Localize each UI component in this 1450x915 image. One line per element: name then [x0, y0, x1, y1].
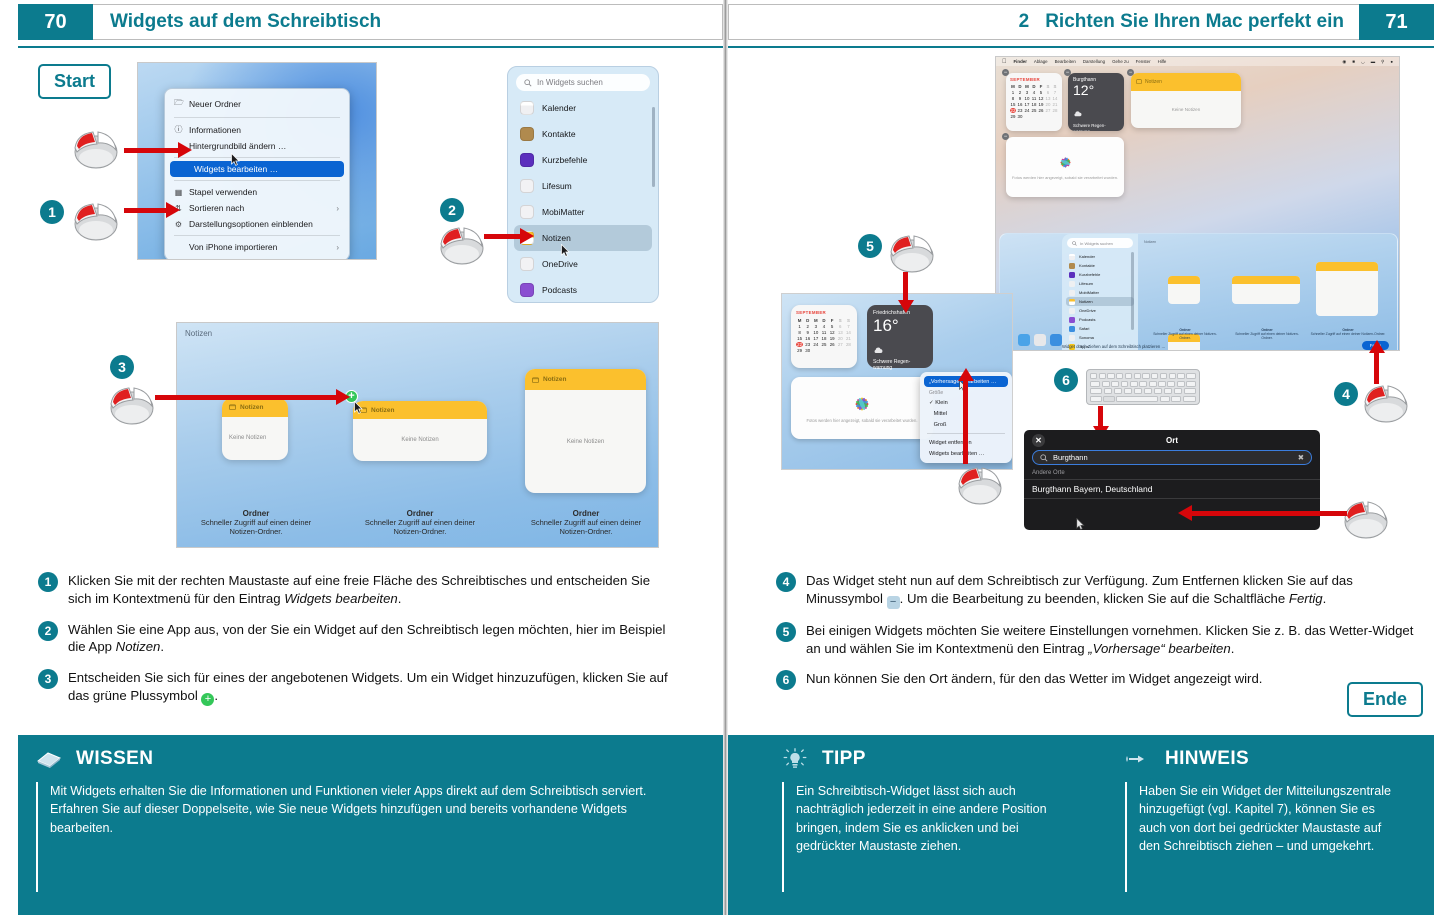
widget-app-row-podcasts[interactable]: Podcasts: [514, 277, 652, 303]
sheet-app-label: Safari: [1079, 326, 1089, 331]
calendar-day: 27: [1045, 108, 1051, 113]
calendar-day: 23: [1017, 108, 1023, 113]
app-icon-podcasts: [520, 283, 534, 297]
calendar-day: 14: [845, 330, 852, 335]
widget-caption-2: Ordner Schneller Zugriff auf einen deine…: [351, 509, 489, 537]
context-menu-item-label: Informationen: [189, 125, 241, 135]
widget-card-head-small: Notizen: [222, 398, 288, 417]
context-menu-separator: [174, 117, 340, 118]
calendar-weekday: M: [796, 318, 803, 323]
menu-darstellung[interactable]: Darstellung: [1083, 59, 1105, 64]
calendar-day: 2: [804, 324, 811, 329]
sheet-app-row-onedrive[interactable]: OneDrive: [1066, 306, 1134, 315]
widget-body-medium: Keine Notizen: [353, 419, 487, 461]
control-center-icon[interactable]: ◉: [1342, 59, 1346, 65]
location-result-label: Burgthann Bayern, Deutschland: [1032, 484, 1153, 494]
desktop-calendar-grid: MDMDFSS123456789101112131415161718192021…: [1010, 84, 1058, 119]
app-icon-safari: [1069, 326, 1075, 332]
arrow-to-notizen: [484, 234, 524, 239]
start-chip: Start: [38, 64, 111, 99]
calendar-weekday: S: [1052, 84, 1058, 89]
calendar-day: 5: [1038, 90, 1044, 95]
app-icon-kalender: [1069, 254, 1075, 260]
mouse-pointer-icon-ort: [1076, 518, 1085, 530]
widget-card-head-large: Notizen: [525, 369, 646, 390]
new-folder-icon: 🗁: [174, 97, 183, 111]
wissen-heading: WISSEN: [36, 748, 696, 770]
context-menu-item-label: Hintergrundbild ändern …: [189, 141, 286, 151]
context-menu-separator: [174, 180, 340, 181]
calendar-day: 3: [812, 324, 819, 329]
calendar-day: 28: [845, 342, 852, 347]
sheet-app-label: Kurzbefehle: [1079, 272, 1100, 277]
callout-badge-5: 5: [858, 234, 882, 258]
context-menu-item-label: Darstellungsoptionen einblenden: [189, 219, 313, 229]
arrow-head-4: [336, 389, 350, 405]
mouse-left-click-icon-5b: [952, 462, 1008, 511]
arrow-head-5: [1369, 340, 1385, 353]
sheet-caption-desc-1: Schneller Zugriff auf einen deiner Notiz…: [1153, 332, 1216, 340]
calendar-day: 19: [829, 336, 836, 341]
widget-card-large[interactable]: Notizen Keine Notizen: [525, 369, 646, 493]
widget-caption-3: Ordner Schneller Zugriff auf einen deine…: [517, 509, 655, 537]
display-icon[interactable]: ▬: [1371, 59, 1375, 65]
widget-card-small[interactable]: Notizen Keine Notizen: [222, 398, 288, 460]
widget-app-row-mobimatter[interactable]: MobiMatter: [514, 199, 652, 225]
sheet-app-row-kontakte[interactable]: Kontakte: [1066, 261, 1134, 270]
dock-launchpad-icon[interactable]: [1034, 334, 1046, 346]
sheet-search-placeholder: In Widgets suchen: [1080, 241, 1113, 246]
context-menu-separator: [174, 157, 340, 158]
step-text-5: Bei einigen Widgets möchten Sie weitere …: [806, 622, 1416, 658]
widget-body-small: Keine Notizen: [222, 417, 288, 460]
widget-app-row-kontakte[interactable]: Kontakte: [514, 121, 652, 147]
picker-scrollbar[interactable]: [652, 107, 655, 187]
widget-app-label: OneDrive: [542, 259, 578, 269]
calendar-day: 27: [837, 342, 844, 347]
notes-folder-icon-4: [1136, 79, 1142, 84]
arrow-to-fertig: [1374, 352, 1379, 384]
calendar-day: 5: [829, 324, 836, 329]
app-icon-podcasts: [1069, 317, 1075, 323]
instruction-step-3: 3Entscheiden Sie sich für eines der ange…: [38, 669, 670, 706]
remove-widget-minus-icon-photos[interactable]: −: [1002, 133, 1009, 140]
fig5-calendar-widget[interactable]: SEPTEMBER MDMDFSS12345678910111213141516…: [791, 305, 857, 368]
step-badge-4: 4: [776, 572, 796, 592]
sheet-app-row-mobimatter[interactable]: MobiMatter: [1066, 288, 1134, 297]
calendar-day: 25: [1031, 108, 1037, 113]
calendar-day: 4: [820, 324, 827, 329]
calendar-day: 29: [796, 348, 803, 353]
app-icon-kontakte: [1069, 263, 1075, 269]
context-menu-item-label: Sortieren nach: [189, 203, 244, 213]
sheet-app-label: MobiMatter: [1079, 290, 1099, 295]
calendar-day: 11: [820, 330, 827, 335]
tipp-heading: TIPP: [782, 748, 1082, 770]
app-icon-notizen: [1069, 299, 1075, 305]
book-double-page: 70 Widgets auf dem Schreibtisch 71 2 Ric…: [0, 0, 1450, 915]
cloud-icon-fig5: [873, 341, 927, 359]
calendar-day: 11: [1031, 96, 1037, 101]
calendar-day: 12: [1038, 96, 1044, 101]
sheet-app-row-notizen[interactable]: Notizen: [1066, 297, 1134, 306]
calendar-day: 8: [796, 330, 803, 335]
calendar-day: 17: [812, 336, 819, 341]
location-result-row[interactable]: Burgthann Bayern, Deutschland: [1024, 479, 1320, 499]
calendar-day: 16: [1017, 102, 1023, 107]
app-icon-mobimatter: [1069, 290, 1075, 296]
sheet-app-row-kurzbefehle[interactable]: Kurzbefehle: [1066, 270, 1134, 279]
context-menu-item-8[interactable]: Von iPhone importieren›: [165, 239, 349, 255]
widget-card-medium[interactable]: Notizen Keine Notizen: [353, 401, 487, 461]
figure1-desktop-screenshot: 🗁Neuer OrdnerⓘInformationenHintergrundbi…: [137, 62, 377, 260]
inline-plus-icon: +: [201, 693, 214, 706]
calendar-day: 12: [829, 330, 836, 335]
figure5-desktop-weather-screenshot: SEPTEMBER MDMDFSS12345678910111213141516…: [781, 293, 1013, 470]
app-icon-kontakte: [520, 127, 534, 141]
calendar-day: 9: [804, 330, 811, 335]
sheet-caption-desc-2: Schneller Zugriff auf einen deiner Notiz…: [1235, 332, 1298, 340]
menu-finder[interactable]: Finder: [1014, 59, 1027, 64]
step-text-6: Nun können Sie den Ort ändern, für den d…: [806, 670, 1262, 690]
right-header-rule: [728, 46, 1434, 48]
sheet-app-row-podcasts[interactable]: Podcasts: [1066, 315, 1134, 324]
sheet-app-label: Lifesum: [1079, 281, 1093, 286]
menu-bearbeiten[interactable]: Bearbeiten: [1055, 59, 1076, 64]
calendar-day: 22: [796, 342, 803, 347]
context-menu-item-4[interactable]: Widgets bearbeiten …: [170, 161, 344, 177]
desktop-weather-temp: 12°: [1073, 83, 1119, 98]
dock-safari-icon[interactable]: [1050, 334, 1062, 346]
calendar-day: 26: [1038, 108, 1044, 113]
book-icon: [36, 749, 62, 769]
widget-app-row-kurzbefehle[interactable]: Kurzbefehle: [514, 147, 652, 173]
calendar-day: 6: [1045, 90, 1051, 95]
desktop-context-menu[interactable]: 🗁Neuer OrdnerⓘInformationenHintergrundbi…: [164, 88, 350, 260]
desktop-notes-head: Notizen: [1145, 79, 1162, 85]
widget-app-label: Kurzbefehle: [542, 155, 587, 165]
app-icon-mobimatter: [520, 205, 534, 219]
desktop-notes-widget[interactable]: Notizen Keine Notizen: [1131, 73, 1241, 128]
mouse-pointer-icon-gallery: [354, 401, 363, 414]
calendar-day: 9: [1017, 96, 1023, 101]
calendar-day: 10: [1024, 96, 1030, 101]
remove-widget-minus-icon-cal[interactable]: −: [1002, 69, 1009, 76]
search-icon-menubar[interactable]: ⚲: [1381, 59, 1384, 65]
sheet-app-label: Podcasts: [1079, 317, 1095, 322]
calendar-day: 23: [804, 342, 811, 347]
sheet-search-field[interactable]: In Widgets suchen: [1067, 238, 1133, 248]
arrow-head-3: [520, 228, 534, 244]
calendar-weekday: S: [1045, 84, 1051, 89]
box-wissen: WISSEN Mit Widgets erhalten Sie die Info…: [36, 748, 696, 892]
apple-logo-icon[interactable]: : [1002, 59, 1007, 65]
arrow-head-1: [178, 142, 192, 158]
step-text-1: Klicken Sie mit der rechten Maustaste au…: [68, 572, 670, 608]
widget-head-label-large: Notizen: [543, 376, 566, 383]
dock-finder-icon[interactable]: [1018, 334, 1030, 346]
calendar-weekday: D: [804, 318, 811, 323]
tipp-body: Ein Schreibtisch-Widget lässt sich auch …: [782, 782, 1062, 892]
widget-app-label: Notizen: [542, 233, 571, 243]
hinweis-heading: HINWEIS: [1125, 748, 1425, 770]
chapter-title: Richten Sie Ihren Mac perfekt ein: [1045, 11, 1344, 33]
sheet-app-row-lifesum[interactable]: Lifesum: [1066, 279, 1134, 288]
instruction-step-6: 6Nun können Sie den Ort ändern, für den …: [776, 670, 1416, 690]
mouse-pointer-icon-picker: [561, 244, 570, 257]
calendar-day: 15: [796, 336, 803, 341]
context-menu-item-1[interactable]: 🗁Neuer Ordner: [165, 94, 349, 114]
hinweis-body: Haben Sie ein Widget der Mitteilungszent…: [1125, 782, 1405, 892]
menu-fenster[interactable]: Fenster: [1136, 59, 1151, 64]
step-text-2: Wählen Sie eine App aus, von der Sie ein…: [68, 621, 670, 657]
caption-title-1: Ordner: [187, 509, 325, 518]
caption-desc-2: Schneller Zugriff auf einen deiner Notiz…: [351, 518, 489, 537]
gallery-app-title: Notizen: [185, 329, 212, 338]
mouse-left-click-icon-5: [884, 230, 940, 279]
mouse-left-click-icon-2: [434, 222, 490, 271]
desktop-weather-widget[interactable]: Burgthann 12° Schwere Regen-warnung: [1068, 73, 1124, 131]
grid-icon: ▦: [174, 188, 183, 197]
calendar-day: 24: [1024, 108, 1030, 113]
app-icon-sonoma: [1069, 335, 1075, 341]
caption-title-3: Ordner: [517, 509, 655, 518]
desktop-photos-caption: Fotos werden hier angezeigt, sobald sie …: [1012, 175, 1118, 180]
app-icon-lifesum: [520, 179, 534, 193]
calendar-day: 30: [804, 348, 811, 353]
notes-folder-icon-3: [532, 377, 539, 383]
menu-hilfe[interactable]: Hilfe: [1158, 59, 1167, 64]
calendar-weekday: F: [829, 318, 836, 323]
fig5-photos-widget[interactable]: Fotos werden hier angezeigt, sobald sie …: [791, 377, 933, 439]
widget-head-label-medium: Notizen: [371, 407, 394, 414]
calendar-day: 10: [812, 330, 819, 335]
instruction-step-1: 1Klicken Sie mit der rechten Maustaste a…: [38, 572, 670, 608]
widget-caption-1: Ordner Schneller Zugriff auf einen deine…: [187, 509, 325, 537]
right-header-title: 2 Richten Sie Ihren Mac perfekt ein: [1019, 4, 1344, 40]
sheet-picker-sidebar[interactable]: In Widgets suchen KalenderKontakteKurzbe…: [1062, 234, 1138, 351]
calendar-day: 21: [1052, 102, 1058, 107]
wissen-title: WISSEN: [76, 748, 153, 770]
calendar-weekday: D: [1017, 84, 1023, 89]
inline-minus-icon: −: [887, 596, 900, 609]
context-menu-item-label: Neuer Ordner: [189, 99, 241, 109]
calendar-weekday: M: [1010, 84, 1016, 89]
context-menu-item-7[interactable]: ⚙Darstellungsoptionen einblenden: [165, 216, 349, 232]
callout-badge-3: 3: [110, 355, 134, 379]
desktop-notes-body: Keine Notizen: [1131, 91, 1241, 128]
calendar-day: 28: [1052, 108, 1058, 113]
search-icon: [524, 79, 532, 87]
photos-app-icon-fig5: [852, 394, 872, 414]
app-icon-lifesum: [1069, 281, 1075, 287]
remove-widget-minus-icon-notes[interactable]: −: [1127, 69, 1134, 76]
hinweis-title: HINWEIS: [1165, 748, 1249, 770]
calendar-day: 15: [1010, 102, 1016, 107]
left-page-number: 70: [18, 4, 93, 40]
mouse-left-click-icon-4: [1358, 380, 1414, 429]
app-icon-onedrive: [1069, 308, 1075, 314]
search-icon-ort: [1040, 454, 1048, 462]
chevron-right-icon: ›: [336, 204, 339, 213]
left-header-rule: [18, 46, 723, 48]
mac-dock[interactable]: [1018, 334, 1062, 346]
wifi-icon[interactable]: ◡: [1361, 59, 1365, 65]
widget-card-head-medium: Notizen: [353, 401, 487, 419]
widget-search-field[interactable]: In Widgets suchen: [516, 74, 650, 91]
instruction-step-2: 2Wählen Sie eine App aus, von der Sie ei…: [38, 621, 670, 657]
widget-app-label: Kontakte: [542, 129, 576, 139]
calendar-weekday: D: [820, 318, 827, 323]
right-page-number: 71: [1359, 4, 1434, 40]
fig5-weather-widget[interactable]: Friedrichshafen 16° Schwere Regen-warnun…: [867, 305, 933, 368]
notes-folder-icon: [229, 404, 236, 410]
right-instruction-list: 4Das Widget steht nun auf dem Schreibtis…: [776, 572, 1416, 703]
widget-app-row-notizen[interactable]: Notizen: [514, 225, 652, 251]
calendar-day: 25: [820, 342, 827, 347]
step-text-4: Das Widget steht nun auf dem Schreibtisc…: [806, 572, 1416, 609]
calendar-day: 18: [1031, 102, 1037, 107]
battery-icon[interactable]: ■: [1352, 59, 1355, 65]
sheet-app-label: Kalender: [1079, 254, 1095, 259]
sheet-app-label: OneDrive: [1079, 308, 1096, 313]
context-menu-item-label: Von iPhone importieren: [189, 242, 277, 252]
fig5-calendar-month: SEPTEMBER: [796, 310, 852, 315]
calendar-day: 13: [837, 330, 844, 335]
box-hinweis: HINWEIS Haben Sie ein Widget der Mitteil…: [1125, 748, 1425, 892]
sheet-app-row-safari[interactable]: Safari: [1066, 324, 1134, 333]
tipp-title: TIPP: [822, 748, 866, 770]
sheet-caption-desc-3: Schneller Zugriff auf einen deiner Notiz…: [1311, 332, 1386, 336]
sheet-gallery-title: Notizen: [1144, 240, 1156, 244]
location-search-input[interactable]: Burgthann ✖: [1032, 450, 1312, 465]
desktop-calendar-widget[interactable]: SEPTEMBER MDMDFSS12345678910111213141516…: [1006, 73, 1062, 131]
callout-badge-4: 4: [1334, 382, 1358, 406]
widget-app-row-kalender[interactable]: Kalender: [514, 95, 652, 121]
instruction-step-5: 5Bei einigen Widgets möchten Sie weitere…: [776, 622, 1416, 658]
arrow-to-location-result: [1192, 511, 1347, 516]
calendar-day: 22: [1010, 108, 1016, 113]
calendar-day: 1: [796, 324, 803, 329]
calendar-day: 26: [829, 342, 836, 347]
wissen-body: Mit Widgets erhalten Sie die Information…: [36, 782, 656, 892]
app-icon-kurzbefehle: [520, 153, 534, 167]
location-search-value: Burgthann: [1053, 453, 1088, 462]
sheet-app-row-sonoma[interactable]: Sonoma: [1066, 333, 1134, 342]
callout-badge-6: 6: [1054, 368, 1078, 392]
step-text-3: Entscheiden Sie sich für eines der angeb…: [68, 669, 670, 706]
calendar-day: 30: [1017, 114, 1023, 119]
step-badge-6: 6: [776, 670, 796, 690]
calendar-day: 3: [1024, 90, 1030, 95]
step-badge-2: 2: [38, 621, 58, 641]
caption-desc-1: Schneller Zugriff auf einen deiner Notiz…: [187, 518, 325, 537]
mouse-left-click-icon-3: [104, 382, 160, 431]
calendar-day: 18: [820, 336, 827, 341]
context-menu-item-6[interactable]: ⇅Sortieren nach›: [165, 200, 349, 216]
calendar-day: 24: [812, 342, 819, 347]
app-icon-kurzbefehle: [1069, 272, 1075, 278]
step-badge-3: 3: [38, 669, 58, 689]
sheet-app-label: Notizen: [1079, 299, 1093, 304]
left-instruction-list: 1Klicken Sie mit der rechten Maustaste a…: [38, 572, 670, 719]
app-icon-kalender: [520, 101, 534, 115]
calendar-weekday: D: [1031, 84, 1037, 89]
calendar-weekday: S: [845, 318, 852, 323]
fig5-weather-temp: 16°: [873, 317, 927, 334]
sheet-app-list[interactable]: KalenderKontakteKurzbefehleLifesumMobiMa…: [1062, 252, 1138, 351]
mouse-right-click-icon-b: [68, 198, 124, 247]
arrow-head-2: [166, 202, 180, 218]
calendar-day: 1: [1010, 90, 1016, 95]
instruction-step-4: 4Das Widget steht nun auf dem Schreibtis…: [776, 572, 1416, 609]
calendar-day: 7: [845, 324, 852, 329]
box-tipp: TIPP Ein Schreibtisch-Widget lässt sich …: [782, 748, 1082, 892]
widget-app-list[interactable]: KalenderKontakteKurzbefehleLifesumMobiMa…: [508, 95, 658, 303]
search-icon-sheet: [1072, 241, 1077, 246]
fig5-calendar-grid: MDMDFSS123456789101112131415161718192021…: [796, 318, 852, 353]
lightbulb-icon: [782, 748, 808, 770]
calendar-weekday: M: [1024, 84, 1030, 89]
app-icon-onedrive: [520, 257, 534, 271]
left-header-title: Widgets auf dem Schreibtisch: [110, 4, 381, 40]
calendar-day: 19: [1038, 102, 1044, 107]
sheet-app-label: Sonoma: [1079, 335, 1094, 340]
left-page-header: 70 Widgets auf dem Schreibtisch: [18, 4, 723, 40]
widget-picker-panel[interactable]: In Widgets suchen KalenderKontakteKurzbe…: [507, 66, 659, 303]
widget-app-row-onedrive[interactable]: OneDrive: [514, 251, 652, 277]
arrow-to-plus: [155, 395, 340, 400]
callout-badge-2: 2: [440, 198, 464, 222]
menu-bar-status-icons[interactable]: ◉ ■ ◡ ▬ ⚲ ●: [1342, 59, 1393, 65]
calendar-day: 4: [1031, 90, 1037, 95]
step-badge-1: 1: [38, 572, 58, 592]
calendar-day: 6: [837, 324, 844, 329]
fig5-photos-caption: Fotos werden hier angezeigt, sobald sie …: [805, 418, 919, 423]
info-icon: ⓘ: [174, 124, 183, 135]
menu-ablage[interactable]: Ablage: [1034, 59, 1048, 64]
calendar-day: 20: [1045, 102, 1051, 107]
clear-icon[interactable]: ✖: [1298, 453, 1304, 462]
siri-icon[interactable]: ●: [1390, 59, 1393, 65]
remove-widget-minus-icon-weather[interactable]: −: [1064, 69, 1071, 76]
desktop-weather-warning: Schwere Regen-warnung: [1073, 123, 1119, 131]
arrow-head-6: [898, 300, 914, 313]
right-page-header: 71 2 Richten Sie Ihren Mac perfekt ein: [728, 4, 1434, 40]
widget-app-row-lifesum[interactable]: Lifesum: [514, 173, 652, 199]
context-menu-item-5[interactable]: ▦Stapel verwenden: [165, 184, 349, 200]
calendar-day: 16: [804, 336, 811, 341]
context-menu-item-2[interactable]: ⓘInformationen: [165, 121, 349, 138]
caption-desc-3: Schneller Zugriff auf einen deiner Notiz…: [517, 518, 655, 537]
sheet-app-row-kalender[interactable]: Kalender: [1066, 252, 1134, 261]
context-menu-item-3[interactable]: Hintergrundbild ändern …: [165, 138, 349, 154]
other-places-label: Andere Orte: [1024, 465, 1320, 479]
widget-app-label: Lifesum: [542, 181, 572, 191]
mouse-pointer-icon: [231, 153, 240, 166]
arrow-head-9: [1178, 505, 1192, 521]
close-icon[interactable]: ✕: [1032, 434, 1045, 447]
widget-app-label: Kalender: [542, 103, 576, 113]
chapter-number: 2: [1019, 11, 1030, 33]
calendar-day: 17: [1024, 102, 1030, 107]
desktop-photos-widget[interactable]: Fotos werden hier angezeigt, sobald sie …: [1006, 137, 1124, 197]
calendar-day: 2: [1017, 90, 1023, 95]
menu-gehe-zu[interactable]: Gehe zu: [1112, 59, 1129, 64]
sheet-scrollbar[interactable]: [1131, 252, 1134, 330]
mac-menu-bar[interactable]:  FinderAblageBearbeitenDarstellungGehe …: [996, 57, 1399, 66]
arrow-to-ctx-item: [963, 378, 968, 464]
